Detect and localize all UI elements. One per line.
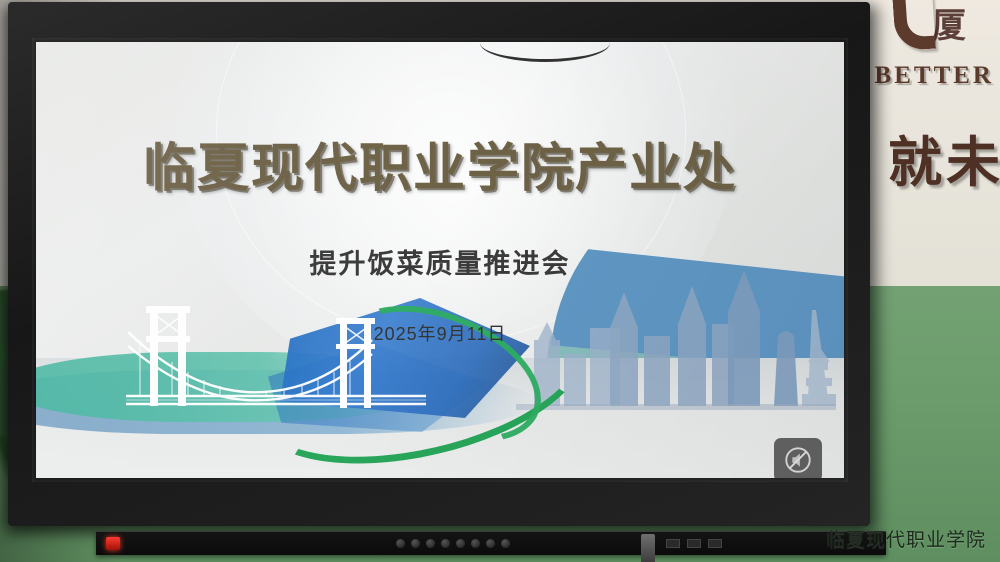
cable-plug[interactable] bbox=[641, 534, 655, 562]
room-scene: 厦 代 S BETTER 就未 bbox=[0, 0, 1000, 562]
display-screen[interactable]: 临夏现代职业学院产业处 提升饭菜质量推进会 2025年9月11日 bbox=[36, 42, 844, 478]
connector-ports[interactable] bbox=[396, 539, 510, 548]
slide-subtitle: 提升饭菜质量推进会 bbox=[36, 242, 844, 281]
suspension-bridge-illustration bbox=[126, 292, 426, 422]
slide-title: 临夏现代职业学院产业处 bbox=[36, 126, 844, 201]
av-control-panel[interactable] bbox=[96, 531, 886, 555]
mute-status-badge[interactable] bbox=[774, 438, 822, 478]
power-led-indicator bbox=[106, 537, 120, 550]
connector-ports-square[interactable] bbox=[666, 539, 722, 548]
slide-date: 2025年9月11日 bbox=[36, 320, 844, 346]
hook-shape-icon bbox=[892, 0, 936, 51]
interactive-display[interactable]: 临夏现代职业学院产业处 提升饭菜质量推进会 2025年9月11日 bbox=[8, 2, 870, 526]
signage-chinese-lower: 就未 bbox=[888, 118, 1000, 197]
signage-chinese-upper: 厦 代 bbox=[932, 0, 1000, 47]
speaker-muted-icon bbox=[783, 445, 813, 475]
watermark-text: 临夏现代职业学院 bbox=[826, 525, 986, 552]
hanging-cable bbox=[480, 24, 610, 62]
presentation-slide: 临夏现代职业学院产业处 提升饭菜质量推进会 2025年9月11日 bbox=[36, 42, 844, 478]
